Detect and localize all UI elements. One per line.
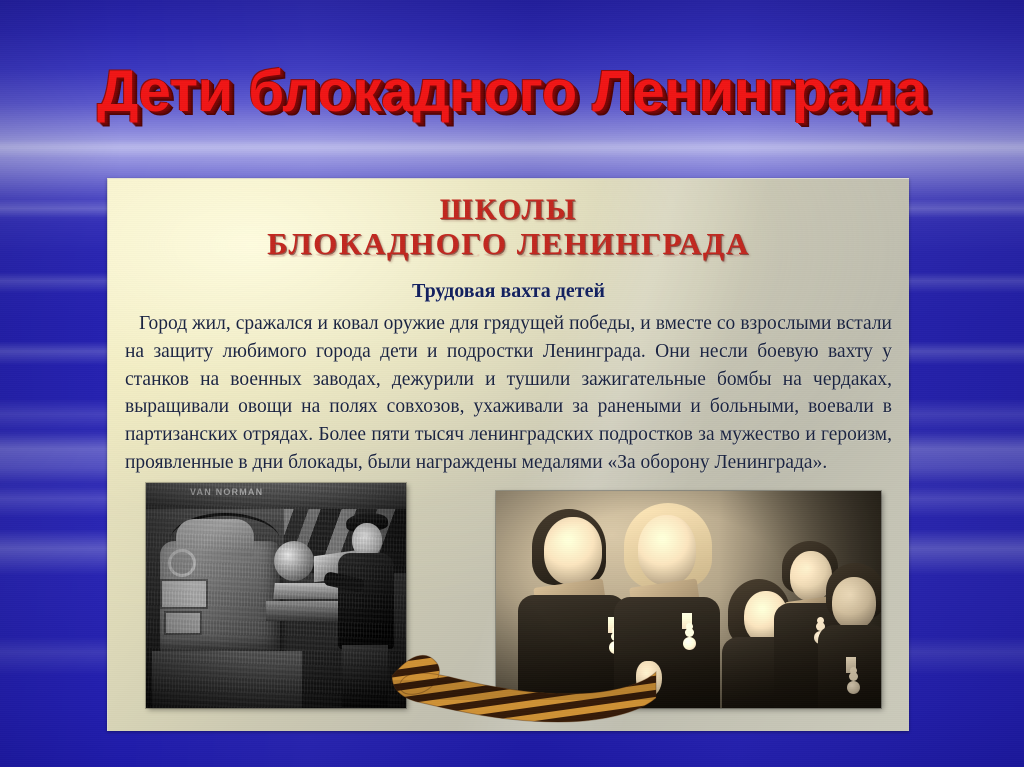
card-heading-line1: ШКОЛЫ bbox=[108, 195, 909, 226]
card-heading-reflection: БЛОКАДНОГО ЛЕНИНГРАДА bbox=[108, 254, 909, 260]
vignette-left bbox=[146, 483, 406, 708]
children-with-medals-photo bbox=[496, 491, 881, 708]
presentation-slide: Дети блокадного Ленинграда ШКОЛЫ БЛОКАДН… bbox=[0, 0, 1024, 767]
card-body-text: Город жил, сражался и ковал оружие для г… bbox=[125, 310, 892, 476]
factory-boy-at-lathe-photo: VAN NORMAN bbox=[146, 483, 406, 708]
content-card: ШКОЛЫ БЛОКАДНОГО ЛЕНИНГРАДА БЛОКАДНОГО Л… bbox=[107, 178, 909, 731]
card-heading: ШКОЛЫ БЛОКАДНОГО ЛЕНИНГРАДА bbox=[108, 195, 909, 259]
slide-title: Дети блокадного Ленинграда bbox=[0, 58, 1024, 125]
factory-photo-grayscale-layer: VAN NORMAN bbox=[146, 483, 406, 708]
photo-row: VAN NORMAN bbox=[108, 483, 909, 711]
card-subtitle: Трудовая вахта детей bbox=[108, 280, 909, 303]
children-photo-sepia-layer bbox=[496, 491, 881, 708]
vignette-right bbox=[496, 491, 881, 708]
